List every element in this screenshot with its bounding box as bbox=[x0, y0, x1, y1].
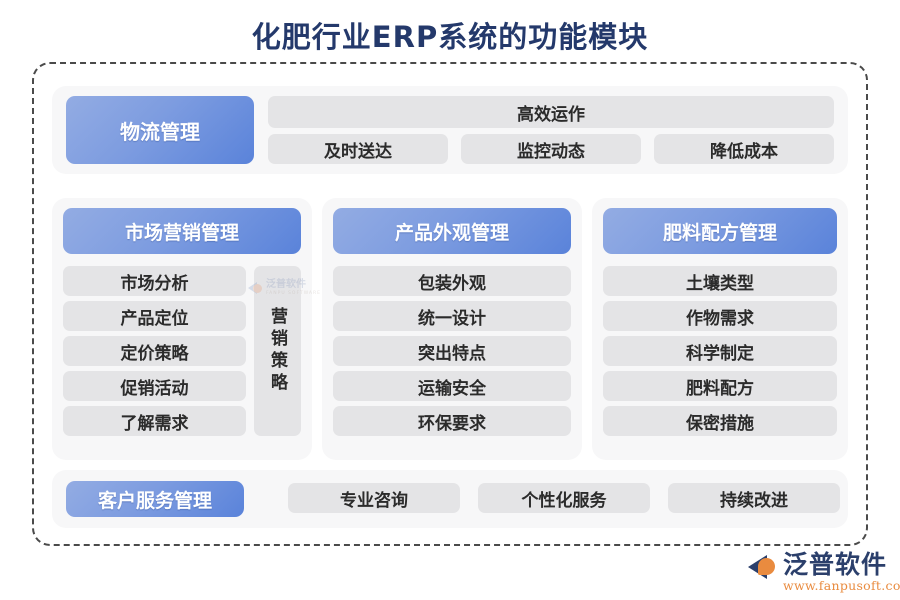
brand-url: www.fanpusoft.com bbox=[783, 579, 900, 593]
customer-service-item-1[interactable]: 个性化服务 bbox=[478, 483, 650, 513]
marketing-item-1[interactable]: 产品定位 bbox=[63, 301, 246, 331]
appearance-item-1[interactable]: 统一设计 bbox=[333, 301, 571, 331]
logistics-wide-item[interactable]: 高效运作 bbox=[268, 96, 834, 128]
marketing-item-2[interactable]: 定价策略 bbox=[63, 336, 246, 366]
appearance-item-3[interactable]: 运输安全 bbox=[333, 371, 571, 401]
infographic-canvas: 化肥行业ERP系统的功能模块 物流管理 高效运作 及时送达 监控动态 降低成本 … bbox=[0, 0, 900, 600]
logistics-item-1[interactable]: 监控动态 bbox=[461, 134, 641, 164]
marketing-item-4[interactable]: 了解需求 bbox=[63, 406, 246, 436]
appearance-item-4[interactable]: 环保要求 bbox=[333, 406, 571, 436]
formula-item-1[interactable]: 作物需求 bbox=[603, 301, 837, 331]
marketing-item-0[interactable]: 市场分析 bbox=[63, 266, 246, 296]
page-title: 化肥行业ERP系统的功能模块 bbox=[0, 14, 900, 56]
customer-service-item-0[interactable]: 专业咨询 bbox=[288, 483, 460, 513]
brand-logo: 泛普软件 www.fanpusoft.com bbox=[748, 552, 898, 596]
formula-item-0[interactable]: 土壤类型 bbox=[603, 266, 837, 296]
customer-service-header[interactable]: 客户服务管理 bbox=[66, 481, 244, 517]
brand-name: 泛普软件 bbox=[783, 552, 900, 578]
fanpu-logo-icon bbox=[748, 553, 778, 581]
logistics-header[interactable]: 物流管理 bbox=[66, 96, 254, 164]
formula-item-3[interactable]: 肥料配方 bbox=[603, 371, 837, 401]
appearance-item-2[interactable]: 突出特点 bbox=[333, 336, 571, 366]
logistics-item-0[interactable]: 及时送达 bbox=[268, 134, 448, 164]
formula-header[interactable]: 肥料配方管理 bbox=[603, 208, 837, 254]
formula-item-2[interactable]: 科学制定 bbox=[603, 336, 837, 366]
marketing-item-3[interactable]: 促销活动 bbox=[63, 371, 246, 401]
logistics-item-2[interactable]: 降低成本 bbox=[654, 134, 834, 164]
marketing-header[interactable]: 市场营销管理 bbox=[63, 208, 301, 254]
customer-service-item-2[interactable]: 持续改进 bbox=[668, 483, 840, 513]
appearance-header[interactable]: 产品外观管理 bbox=[333, 208, 571, 254]
appearance-item-0[interactable]: 包装外观 bbox=[333, 266, 571, 296]
formula-item-4[interactable]: 保密措施 bbox=[603, 406, 837, 436]
marketing-side-label[interactable]: 营销策略 bbox=[254, 266, 301, 436]
